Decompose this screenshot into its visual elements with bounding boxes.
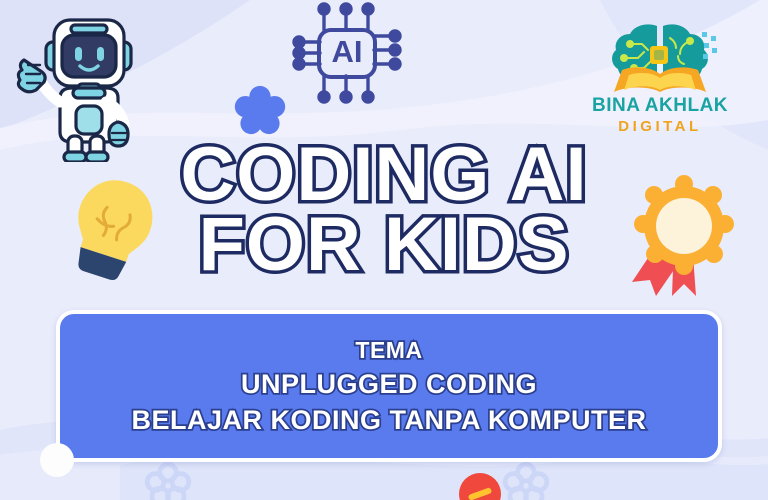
banner-line-3: BELAJAR KODING TANPA KOMPUTER	[131, 407, 646, 434]
flower-outline-icon	[500, 458, 552, 500]
poster-canvas: AI	[0, 0, 768, 500]
logo-brand-name: BINA AKHLAK	[592, 96, 728, 115]
brain-circuit-icon	[600, 22, 720, 94]
flower-icon	[232, 82, 288, 138]
banner-line-1: TEMA	[355, 339, 422, 362]
logo-brand-subtitle: DIGITAL	[618, 119, 701, 134]
ai-chip-icon: AI	[288, 0, 406, 105]
circle-icon	[40, 443, 74, 477]
page-title: CODING AI FOR KIDS	[0, 140, 768, 280]
theme-banner: TEMA UNPLUGGED CODING BELAJAR KODING TAN…	[56, 310, 722, 462]
robot-mascot-icon	[8, 2, 158, 162]
circle-icon	[459, 473, 501, 500]
flower-outline-icon	[142, 458, 194, 500]
title-line-1: CODING AI	[0, 140, 768, 210]
chip-label: AI	[332, 34, 363, 69]
open-book-icon	[614, 67, 706, 92]
banner-line-2: UNPLUGGED CODING	[241, 371, 537, 398]
logo: BINA AKHLAK DIGITAL	[572, 22, 748, 142]
dash-icon	[468, 487, 493, 500]
title-line-2: FOR KIDS	[0, 210, 768, 280]
